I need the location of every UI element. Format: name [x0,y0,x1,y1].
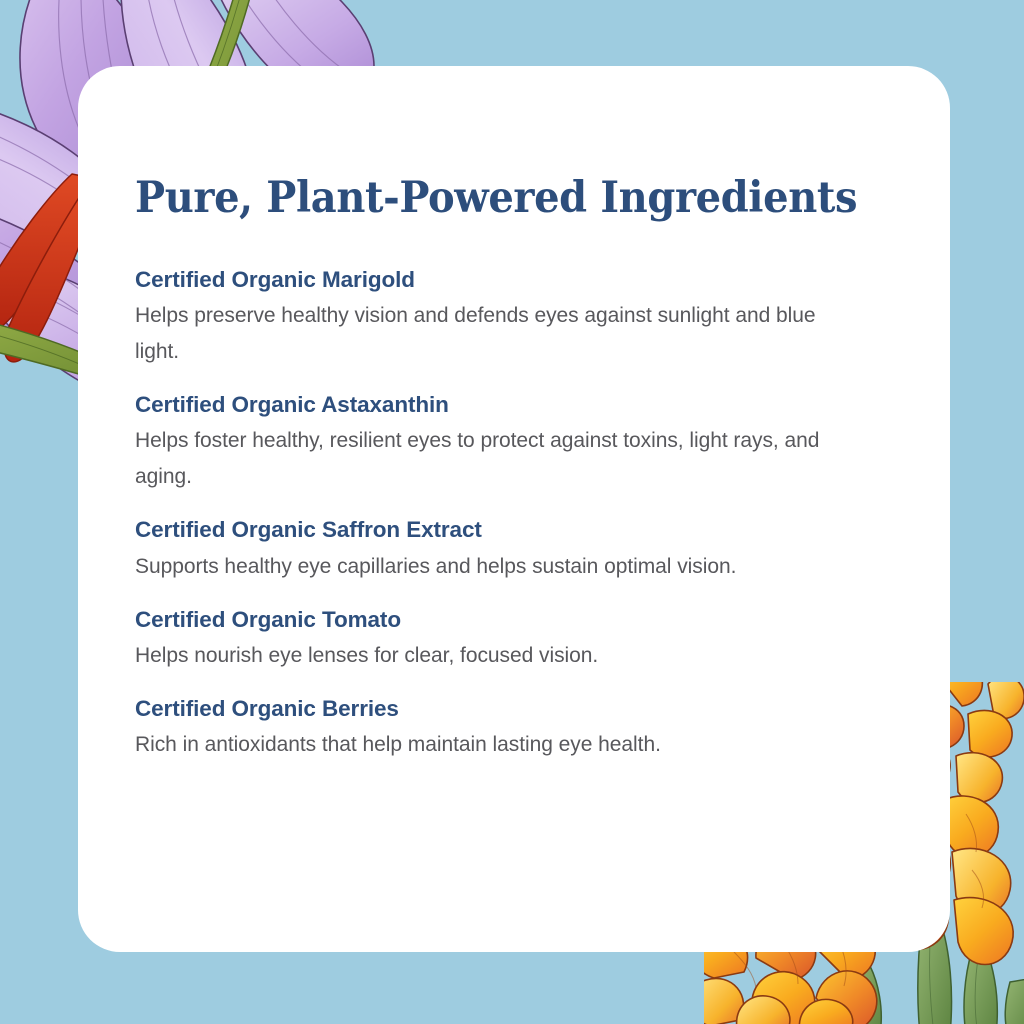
ingredient-name: Certified Organic Astaxanthin [135,390,900,420]
ingredient-item-saffron-extract: Certified Organic Saffron Extract Suppor… [135,515,900,584]
ingredients-card: Pure, Plant-Powered Ingredients Certifie… [78,66,950,952]
ingredient-description: Helps nourish eye lenses for clear, focu… [135,638,855,674]
ingredient-description: Supports healthy eye capillaries and hel… [135,549,855,585]
ingredient-name: Certified Organic Berries [135,694,900,724]
ingredient-item-marigold: Certified Organic Marigold Helps preserv… [135,265,900,370]
ingredient-description: Helps foster healthy, resilient eyes to … [135,423,855,495]
ingredient-item-tomato: Certified Organic Tomato Helps nourish e… [135,605,900,674]
product-ingredients-graphic: Pure, Plant-Powered Ingredients Certifie… [0,0,1024,1024]
ingredients-list: Certified Organic Marigold Helps preserv… [135,265,900,763]
card-content: Pure, Plant-Powered Ingredients Certifie… [135,176,900,763]
ingredient-name: Certified Organic Tomato [135,605,900,635]
ingredient-description: Helps preserve healthy vision and defend… [135,298,855,370]
ingredient-description: Rich in antioxidants that help maintain … [135,727,855,763]
page-title: Pure, Plant-Powered Ingredients [135,176,846,221]
ingredient-name: Certified Organic Saffron Extract [135,515,900,545]
ingredient-name: Certified Organic Marigold [135,265,900,295]
ingredient-item-astaxanthin: Certified Organic Astaxanthin Helps fost… [135,390,900,495]
ingredient-item-berries: Certified Organic Berries Rich in antiox… [135,694,900,763]
